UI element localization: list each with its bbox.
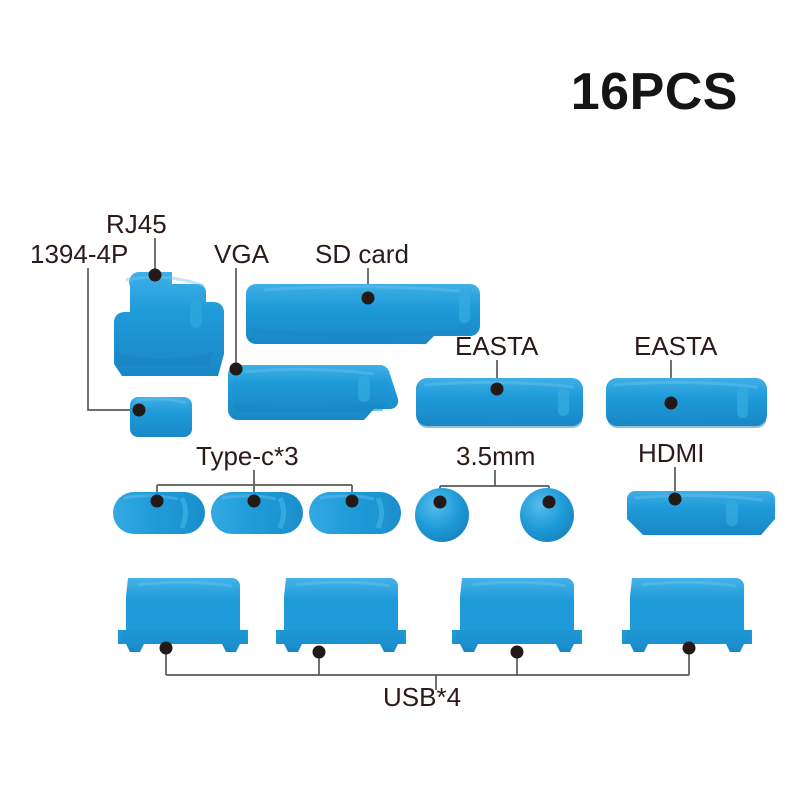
label-vga: VGA [214,241,269,267]
dot-sd-card [362,292,375,305]
dot-easta-2 [665,397,678,410]
label-usb: USB*4 [383,684,461,710]
plug-vga [228,365,398,420]
label-type-c: Type-c*3 [196,443,299,469]
label-1394-4p: 1394-4P [30,241,128,267]
label-rj45: RJ45 [106,211,167,237]
product-image-canvas: 16PCS 1394-4P RJ45 VGA SD card EASTA EAS… [0,0,800,800]
label-3-5mm: 3.5mm [456,443,535,469]
dot-usb-2 [313,646,326,659]
dot-hdmi [669,493,682,506]
plug-hdmi [627,491,775,535]
dot-type-c-3 [346,495,359,508]
plug-usb [622,578,752,652]
plug-usb [118,578,248,652]
plug-easta-2 [606,378,767,428]
dot-rj45 [149,269,162,282]
dot-3-5mm-2 [543,496,556,509]
plug-usb [452,578,582,652]
dot-type-c-2 [248,495,261,508]
dot-usb-4 [683,642,696,655]
label-hdmi: HDMI [638,440,704,466]
plug-usb-group [118,578,752,652]
dot-usb-1 [160,642,173,655]
dot-1394-4p [133,404,146,417]
plug-sd-card [246,284,480,344]
plug-usb [276,578,406,652]
label-easta-1: EASTA [455,333,538,359]
label-easta-2: EASTA [634,333,717,359]
dot-3-5mm-1 [434,496,447,509]
dot-easta-1 [491,383,504,396]
plug-1394-4p [130,397,192,437]
dot-type-c-1 [151,495,164,508]
plug-rj45 [112,272,224,376]
dot-usb-3 [511,646,524,659]
dot-vga [230,363,243,376]
pieces-count-badge: 16PCS [571,66,738,118]
label-sd-card: SD card [315,241,409,267]
